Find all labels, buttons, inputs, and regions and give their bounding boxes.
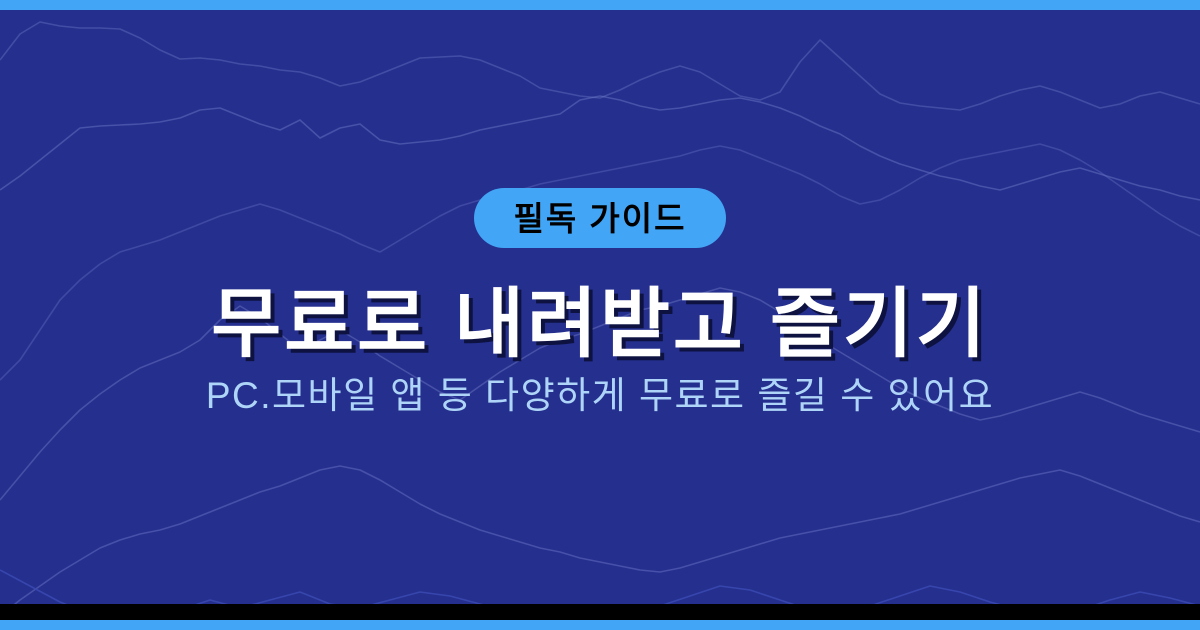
bottom-accent-stripe (0, 620, 1200, 630)
banner-subtitle: PC.모바일 앱 등 다양하게 무료로 즐길 수 있어요 (206, 373, 994, 419)
banner-title: 무료로 내려받고 즐기기 (211, 282, 988, 367)
banner-content: 필독 가이드 무료로 내려받고 즐기기 PC.모바일 앱 등 다양하게 무료로 … (0, 0, 1200, 630)
guide-badge[interactable]: 필독 가이드 (474, 188, 727, 248)
promo-banner: 필독 가이드 무료로 내려받고 즐기기 PC.모바일 앱 등 다양하게 무료로 … (0, 0, 1200, 630)
top-accent-stripe (0, 0, 1200, 10)
bottom-black-stripe (0, 604, 1200, 620)
